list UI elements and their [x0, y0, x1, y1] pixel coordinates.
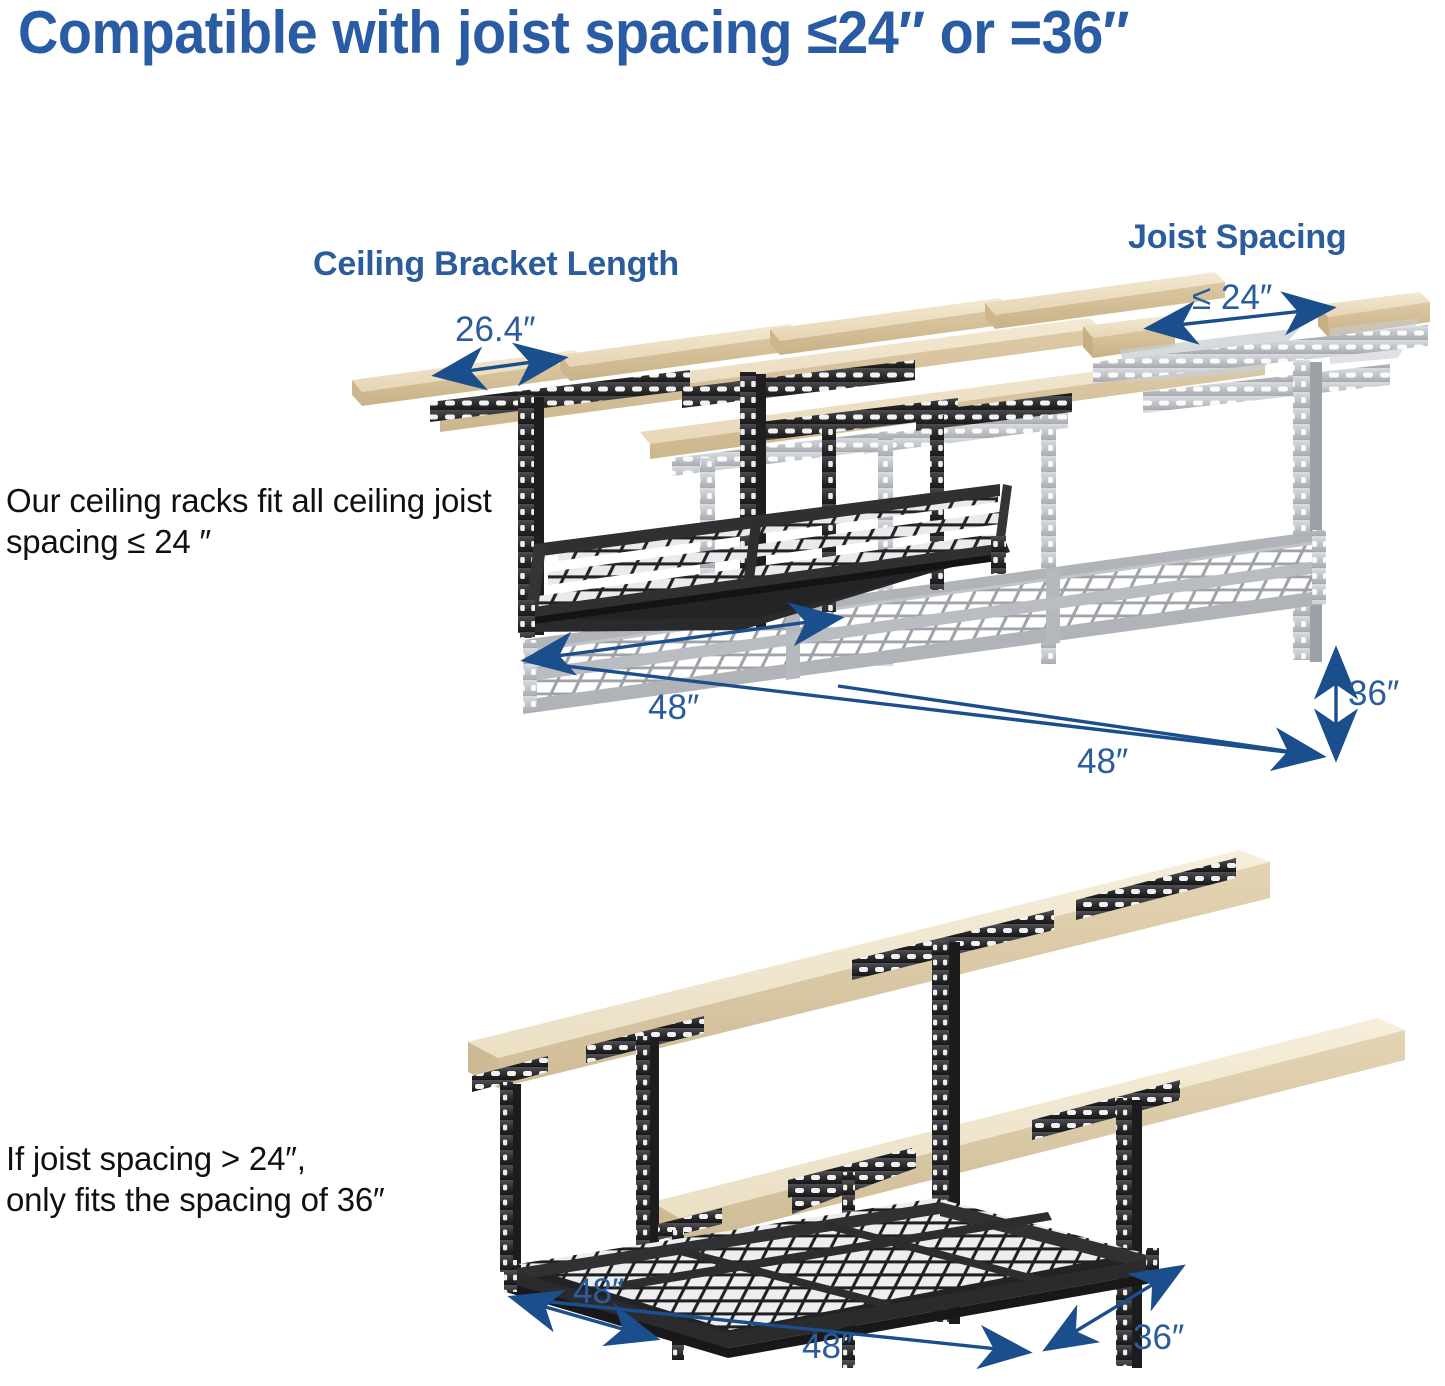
vertical-post [504, 1260, 517, 1292]
vertical-post [636, 1036, 659, 1276]
vertical-post [991, 536, 1006, 574]
caption-bottom-line2: only fits the spacing of 36″ [6, 1179, 506, 1220]
joist-beam [985, 272, 1225, 329]
dimension-label-bottom-width-right: 48″ [802, 1327, 853, 1367]
joist-beam-front [652, 1018, 1405, 1244]
label-ceiling-bracket-length: Ceiling Bracket Length [313, 245, 679, 284]
caption-top: Our ceiling racks fit all ceiling joist … [6, 480, 526, 562]
dimension-label-joist-spacing: ≤ 24″ [1192, 278, 1272, 318]
vertical-post [523, 640, 537, 712]
vertical-post [1146, 1248, 1159, 1280]
caption-bottom: If joist spacing > 24″, only fits the sp… [6, 1138, 506, 1220]
dimension-label-bottom-width-left: 48″ [573, 1272, 624, 1312]
dimension-label-bottom-depth: 36″ [1133, 1318, 1184, 1358]
dimension-label-top-depth: 36″ [1348, 674, 1399, 714]
vertical-post [520, 600, 535, 638]
vertical-post [1293, 360, 1322, 662]
label-joist-spacing: Joist Spacing [1128, 218, 1346, 257]
dimension-label-top-width-left: 48″ [648, 688, 699, 728]
caption-bottom-line1: If joist spacing > 24″, [6, 1138, 506, 1179]
dimension-label-top-width-right: 48″ [1077, 742, 1128, 782]
dimension-label-bracket-length: 26.4″ [455, 310, 536, 350]
page-title: Compatible with joist spacing ≤24″ or =3… [18, 0, 1339, 68]
vertical-post [1312, 530, 1326, 604]
